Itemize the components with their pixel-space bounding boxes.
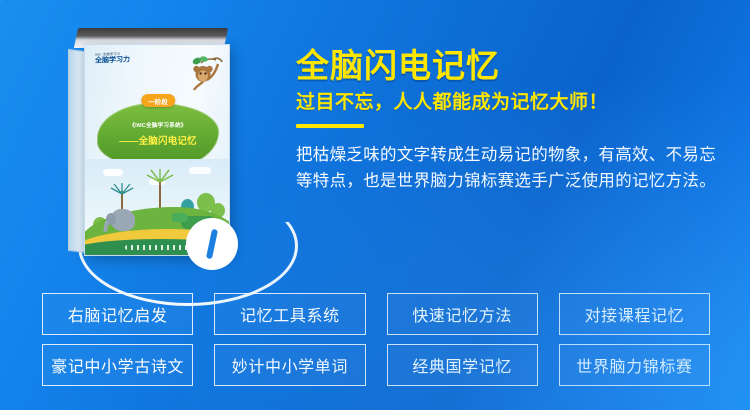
cloud-icon <box>189 167 211 174</box>
feature-item[interactable]: 对接课程记忆 <box>559 293 710 335</box>
feature-item[interactable]: 右脑记忆启发 <box>42 293 193 335</box>
accent-rule <box>296 124 364 128</box>
number-badge-mark <box>206 229 218 260</box>
brand-logo: IMC 全脑学习力 全脑学习力 <box>95 52 130 65</box>
feature-item[interactable]: 豪记中小学古诗文 <box>42 344 193 386</box>
series-title-text: 《IMC全脑学习系统》 <box>97 121 219 129</box>
headline: 全脑闪电记忆 <box>296 48 728 85</box>
feature-item[interactable]: 妙计中小学单词 <box>214 344 365 386</box>
subheadline: 过目不忘，人人都能成为记忆大师！ <box>296 92 728 115</box>
palm-leaves-icon <box>145 169 175 185</box>
palm-leaves-icon <box>109 183 135 197</box>
feature-item[interactable]: 快速记忆方法 <box>387 293 538 335</box>
stage-badge: 一阶段 <box>141 94 175 107</box>
copy-column: 全脑闪电记忆 过目不忘，人人都能成为记忆大师！ 把枯燥乏味的文字转成生动易记的物… <box>296 48 728 195</box>
cloud-icon <box>103 169 123 176</box>
elephant-icon <box>111 209 135 231</box>
feature-item[interactable]: 世界脑力锦标赛 <box>559 344 710 386</box>
feature-item[interactable]: 经典国学记忆 <box>387 344 538 386</box>
brand-logo-main-text: 全脑学习力 <box>95 56 130 65</box>
feature-item[interactable]: 记忆工具系统 <box>214 293 365 335</box>
feature-grid: 右脑记忆启发 记忆工具系统 快速记忆方法 对接课程记忆 豪记中小学古诗文 妙计中… <box>42 293 710 386</box>
monkey-icon <box>183 55 223 91</box>
course-title-text: ——全脑闪电记忆 <box>97 133 219 147</box>
promo-banner: IMC 全脑学习力 全脑学习力 <box>0 0 750 410</box>
body-copy: 把枯燥乏味的文字转成生动易记的物象，有高效、不易忘等特点，也是世界脑力锦标赛选手… <box>296 142 716 195</box>
product-image-area: IMC 全脑学习力 全脑学习力 <box>0 0 290 300</box>
number-badge <box>186 218 238 270</box>
